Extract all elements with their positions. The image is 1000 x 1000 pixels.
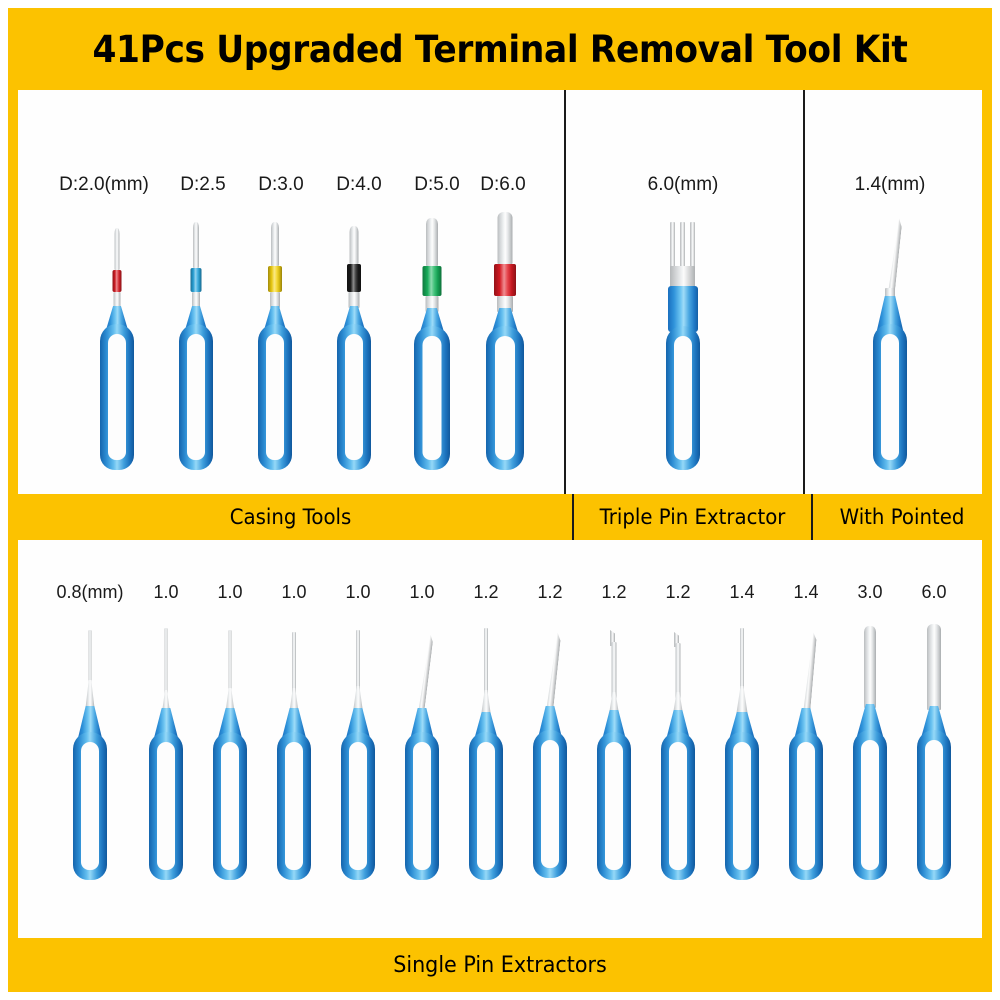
single-pin-tool-2[interactable] (200, 630, 260, 880)
casing-tool-5[interactable] (471, 212, 539, 470)
tool-label-triple-0: 6.0(mm) (648, 174, 719, 196)
frame-edge-right-top (982, 90, 992, 494)
angled-blade-icon (544, 632, 561, 713)
tool-label-single-11: 1.4 (793, 582, 818, 603)
single-pin-tool-7[interactable] (520, 632, 580, 880)
collar-black (347, 264, 361, 292)
caption-single-pin-extractors: Single Pin Extractors (38, 938, 963, 992)
pointed-extractor-tool[interactable] (855, 218, 925, 470)
tool-label-single-4: 1.0 (345, 582, 370, 603)
casing-tool-0[interactable] (87, 228, 147, 470)
tool-label-casing-0: D:2.0(mm) (59, 174, 149, 196)
tool-label-pointed-0: 1.4(mm) (855, 174, 926, 196)
collar-cyan (191, 268, 202, 292)
caption-divider-1 (572, 494, 574, 540)
title-bar: 41Pcs Upgraded Terminal Removal Tool Kit (8, 8, 992, 90)
caption-divider-2 (811, 494, 813, 540)
casing-tool-2[interactable] (245, 222, 305, 470)
single-pin-tool-12[interactable] (840, 626, 900, 880)
tool-label-single-1: 1.0 (153, 582, 178, 603)
frame-edge-right-bottom (982, 540, 992, 938)
collar-red (113, 270, 122, 292)
angled-blade-icon (801, 632, 817, 714)
tool-label-single-2: 1.0 (217, 582, 242, 603)
single-pin-tool-9[interactable] (648, 632, 708, 880)
tool-label-single-12: 3.0 (857, 582, 882, 603)
casing-tool-3[interactable] (324, 226, 384, 470)
caption-with-pointed: With Pointed (817, 494, 986, 540)
tool-label-single-9: 1.2 (665, 582, 690, 603)
tool-label-casing-4: D:5.0 (414, 174, 459, 196)
frame-edge-left-bottom (8, 540, 18, 938)
tool-label-casing-1: D:2.5 (180, 174, 225, 196)
tool-label-single-3: 1.0 (281, 582, 306, 603)
collar-red-2 (494, 264, 516, 296)
tool-label-single-13: 6.0 (921, 582, 946, 603)
single-pin-tool-10[interactable] (712, 628, 772, 880)
single-pin-tool-1[interactable] (136, 628, 196, 880)
caption-bar-top: Casing Tools Triple Pin Extractor With P… (8, 494, 992, 540)
tool-label-single-8: 1.2 (601, 582, 626, 603)
casing-tool-4[interactable] (400, 218, 464, 470)
casing-tool-1[interactable] (166, 222, 226, 470)
tool-label-casing-3: D:4.0 (336, 174, 381, 196)
caption-triple-pin: Triple Pin Extractor (580, 494, 805, 540)
tool-label-single-0: 0.8(mm) (57, 582, 124, 603)
tool-label-single-6: 1.2 (473, 582, 498, 603)
tool-label-single-10: 1.4 (729, 582, 754, 603)
single-pin-tool-11[interactable] (776, 632, 836, 880)
panel-divider-2 (803, 90, 805, 494)
collar-yellow (268, 266, 282, 292)
angled-blade-icon (416, 634, 434, 714)
collar-green (423, 266, 442, 296)
tool-label-casing-5: D:6.0 (480, 174, 525, 196)
tool-label-single-7: 1.2 (537, 582, 562, 603)
triple-pin-extractor-tool[interactable] (648, 222, 718, 470)
single-pin-tool-0[interactable] (60, 630, 120, 880)
frame-edge-left-top (8, 90, 18, 494)
caption-bar-bottom: Single Pin Extractors (8, 938, 992, 992)
tool-label-single-5: 1.0 (409, 582, 434, 603)
product-infographic: 41Pcs Upgraded Terminal Removal Tool Kit… (0, 0, 1000, 1000)
panel-divider-1 (564, 90, 566, 494)
single-pin-tool-5[interactable] (392, 634, 452, 880)
single-pin-tool-6[interactable] (456, 628, 516, 880)
tool-label-casing-2: D:3.0 (258, 174, 303, 196)
page-title: 41Pcs Upgraded Terminal Removal Tool Kit (42, 28, 957, 71)
single-pin-tool-3[interactable] (264, 632, 324, 880)
single-pin-tool-4[interactable] (328, 630, 388, 880)
single-pin-tool-13[interactable] (904, 624, 964, 880)
caption-casing-tools: Casing Tools (25, 494, 556, 540)
single-pin-tool-8[interactable] (584, 630, 644, 880)
